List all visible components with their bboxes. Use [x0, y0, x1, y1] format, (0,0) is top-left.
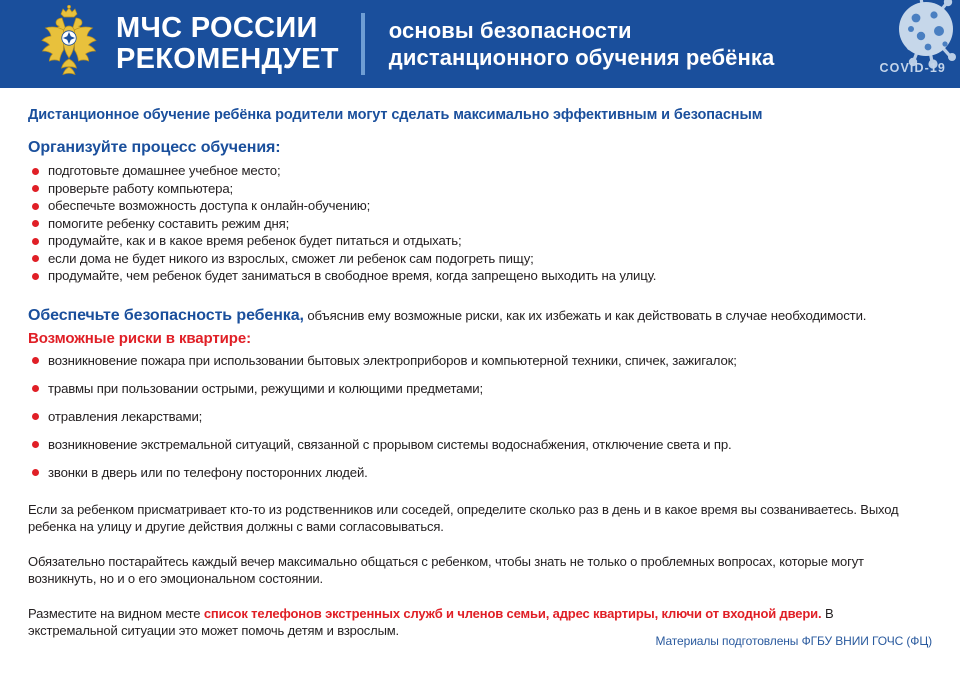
section-heading-organize: Организуйте процесс обучения: [28, 139, 932, 157]
paragraph-supervision: Если за ребенком присматривает кто-то из… [28, 501, 914, 535]
brand-title: МЧС РОССИИ РЕКОМЕНДУЕТ [114, 13, 339, 75]
mchs-double-headed-eagle-emblem [38, 5, 100, 83]
page-header: МЧС РОССИИ РЕКОМЕНДУЕТ основы безопаснос… [0, 0, 960, 88]
organize-list: подготовьте домашнее учебное место; пров… [28, 162, 932, 285]
list-item: травмы при пользовании острыми, режущими… [28, 380, 932, 398]
subtitle-line-1: основы безопасности [389, 17, 775, 44]
list-item: продумайте, чем ребенок будет заниматься… [28, 267, 932, 285]
list-item: проверьте работу компьютера; [28, 180, 932, 198]
brand-line-1: МЧС РОССИИ [116, 13, 339, 44]
section-heading-safety: Обеспечьте безопасность ребенка, объясни… [28, 307, 932, 325]
covid-19-label: COVID-19 [880, 61, 946, 75]
list-item: помогите ребенку составить режим дня; [28, 215, 932, 233]
list-item: подготовьте домашнее учебное место; [28, 162, 932, 180]
emergency-prefix: Разместите на видном месте [28, 606, 204, 621]
subtitle-line-2: дистанционного обучения ребёнка [389, 44, 775, 71]
header-subtitle: основы безопасности дистанционного обуче… [389, 17, 775, 71]
list-item: звонки в дверь или по телефону посторонн… [28, 464, 932, 482]
list-item: если дома не будет никого из взрослых, с… [28, 250, 932, 268]
safety-heading-strong: Обеспечьте безопасность ребенка, [28, 307, 304, 324]
emergency-highlight: список телефонов экстренных служб и член… [204, 606, 822, 621]
brand-line-2: РЕКОМЕНДУЕТ [116, 44, 339, 75]
paragraph-communication: Обязательно постарайтесь каждый вечер ма… [28, 553, 914, 587]
list-item: обеспечьте возможность доступа к онлайн-… [28, 197, 932, 215]
header-divider [361, 13, 365, 75]
subheading-risks: Возможные риски в квартире: [28, 330, 932, 347]
safety-section: Обеспечьте безопасность ребенка, объясни… [28, 307, 932, 482]
safety-heading-tail: объяснив ему возможные риски, как их изб… [304, 308, 866, 323]
footer-credit: Материалы подготовлены ФГБУ ВНИИ ГОЧС (Ф… [655, 634, 932, 648]
list-item: продумайте, как и в какое время ребенок … [28, 232, 932, 250]
lead-statement: Дистанционное обучение ребёнка родители … [28, 107, 932, 123]
page-content: Дистанционное обучение ребёнка родители … [0, 107, 960, 639]
list-item: возникновение пожара при использовании б… [28, 352, 932, 370]
list-item: отравления лекарствами; [28, 408, 932, 426]
risks-list: возникновение пожара при использовании б… [28, 352, 932, 482]
list-item: возникновение экстремальной ситуаций, св… [28, 436, 932, 454]
